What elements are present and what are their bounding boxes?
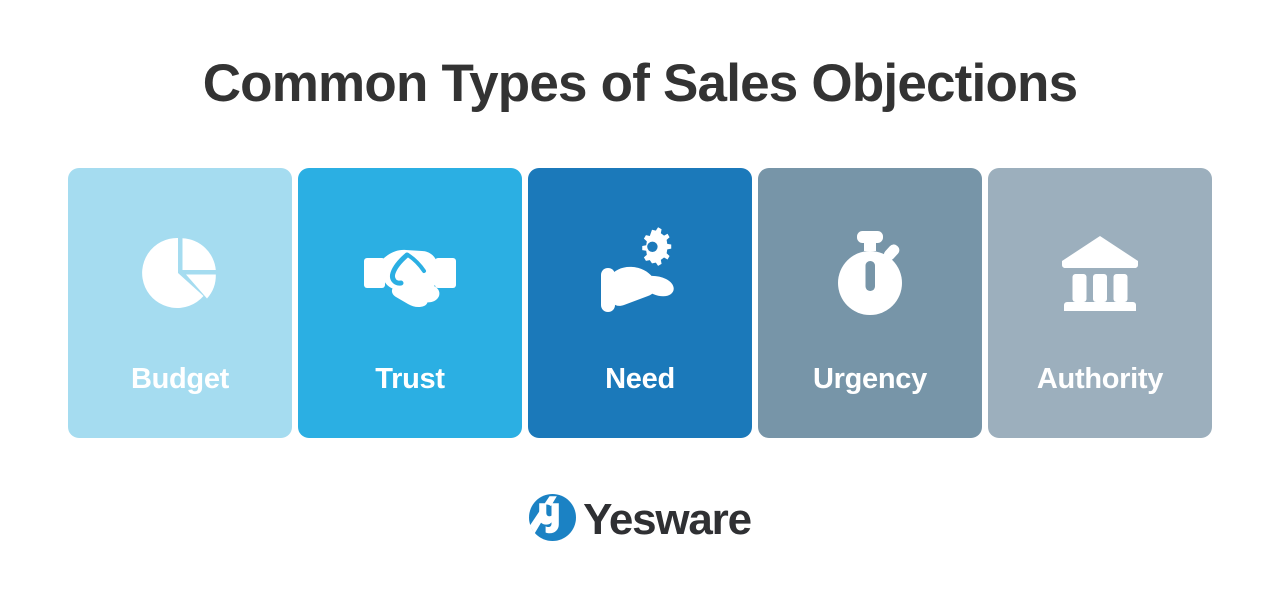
bank-building-icon bbox=[988, 223, 1212, 323]
card-budget[interactable]: Budget bbox=[68, 168, 292, 438]
card-label: Need bbox=[528, 361, 752, 397]
yesware-y-circle-icon bbox=[529, 494, 576, 546]
card-label: Urgency bbox=[758, 361, 982, 397]
card-need[interactable]: Need bbox=[528, 168, 752, 438]
yesware-wordmark: Yesware bbox=[583, 495, 751, 545]
card-urgency[interactable]: Urgency bbox=[758, 168, 982, 438]
pie-chart-icon bbox=[68, 223, 292, 323]
stopwatch-icon bbox=[758, 223, 982, 323]
card-label: Trust bbox=[298, 361, 522, 397]
hand-holding-gear-icon bbox=[528, 223, 752, 323]
card-trust[interactable]: Trust bbox=[298, 168, 522, 438]
objection-cards-row: Budget bbox=[68, 168, 1212, 438]
yesware-logo[interactable]: Yesware bbox=[0, 494, 1280, 546]
card-label: Authority bbox=[988, 361, 1212, 397]
card-label: Budget bbox=[68, 361, 292, 397]
infographic-canvas: Common Types of Sales Objections Budget bbox=[0, 0, 1280, 602]
card-authority[interactable]: Authority bbox=[988, 168, 1212, 438]
handshake-icon bbox=[298, 223, 522, 323]
page-title: Common Types of Sales Objections bbox=[0, 52, 1280, 116]
